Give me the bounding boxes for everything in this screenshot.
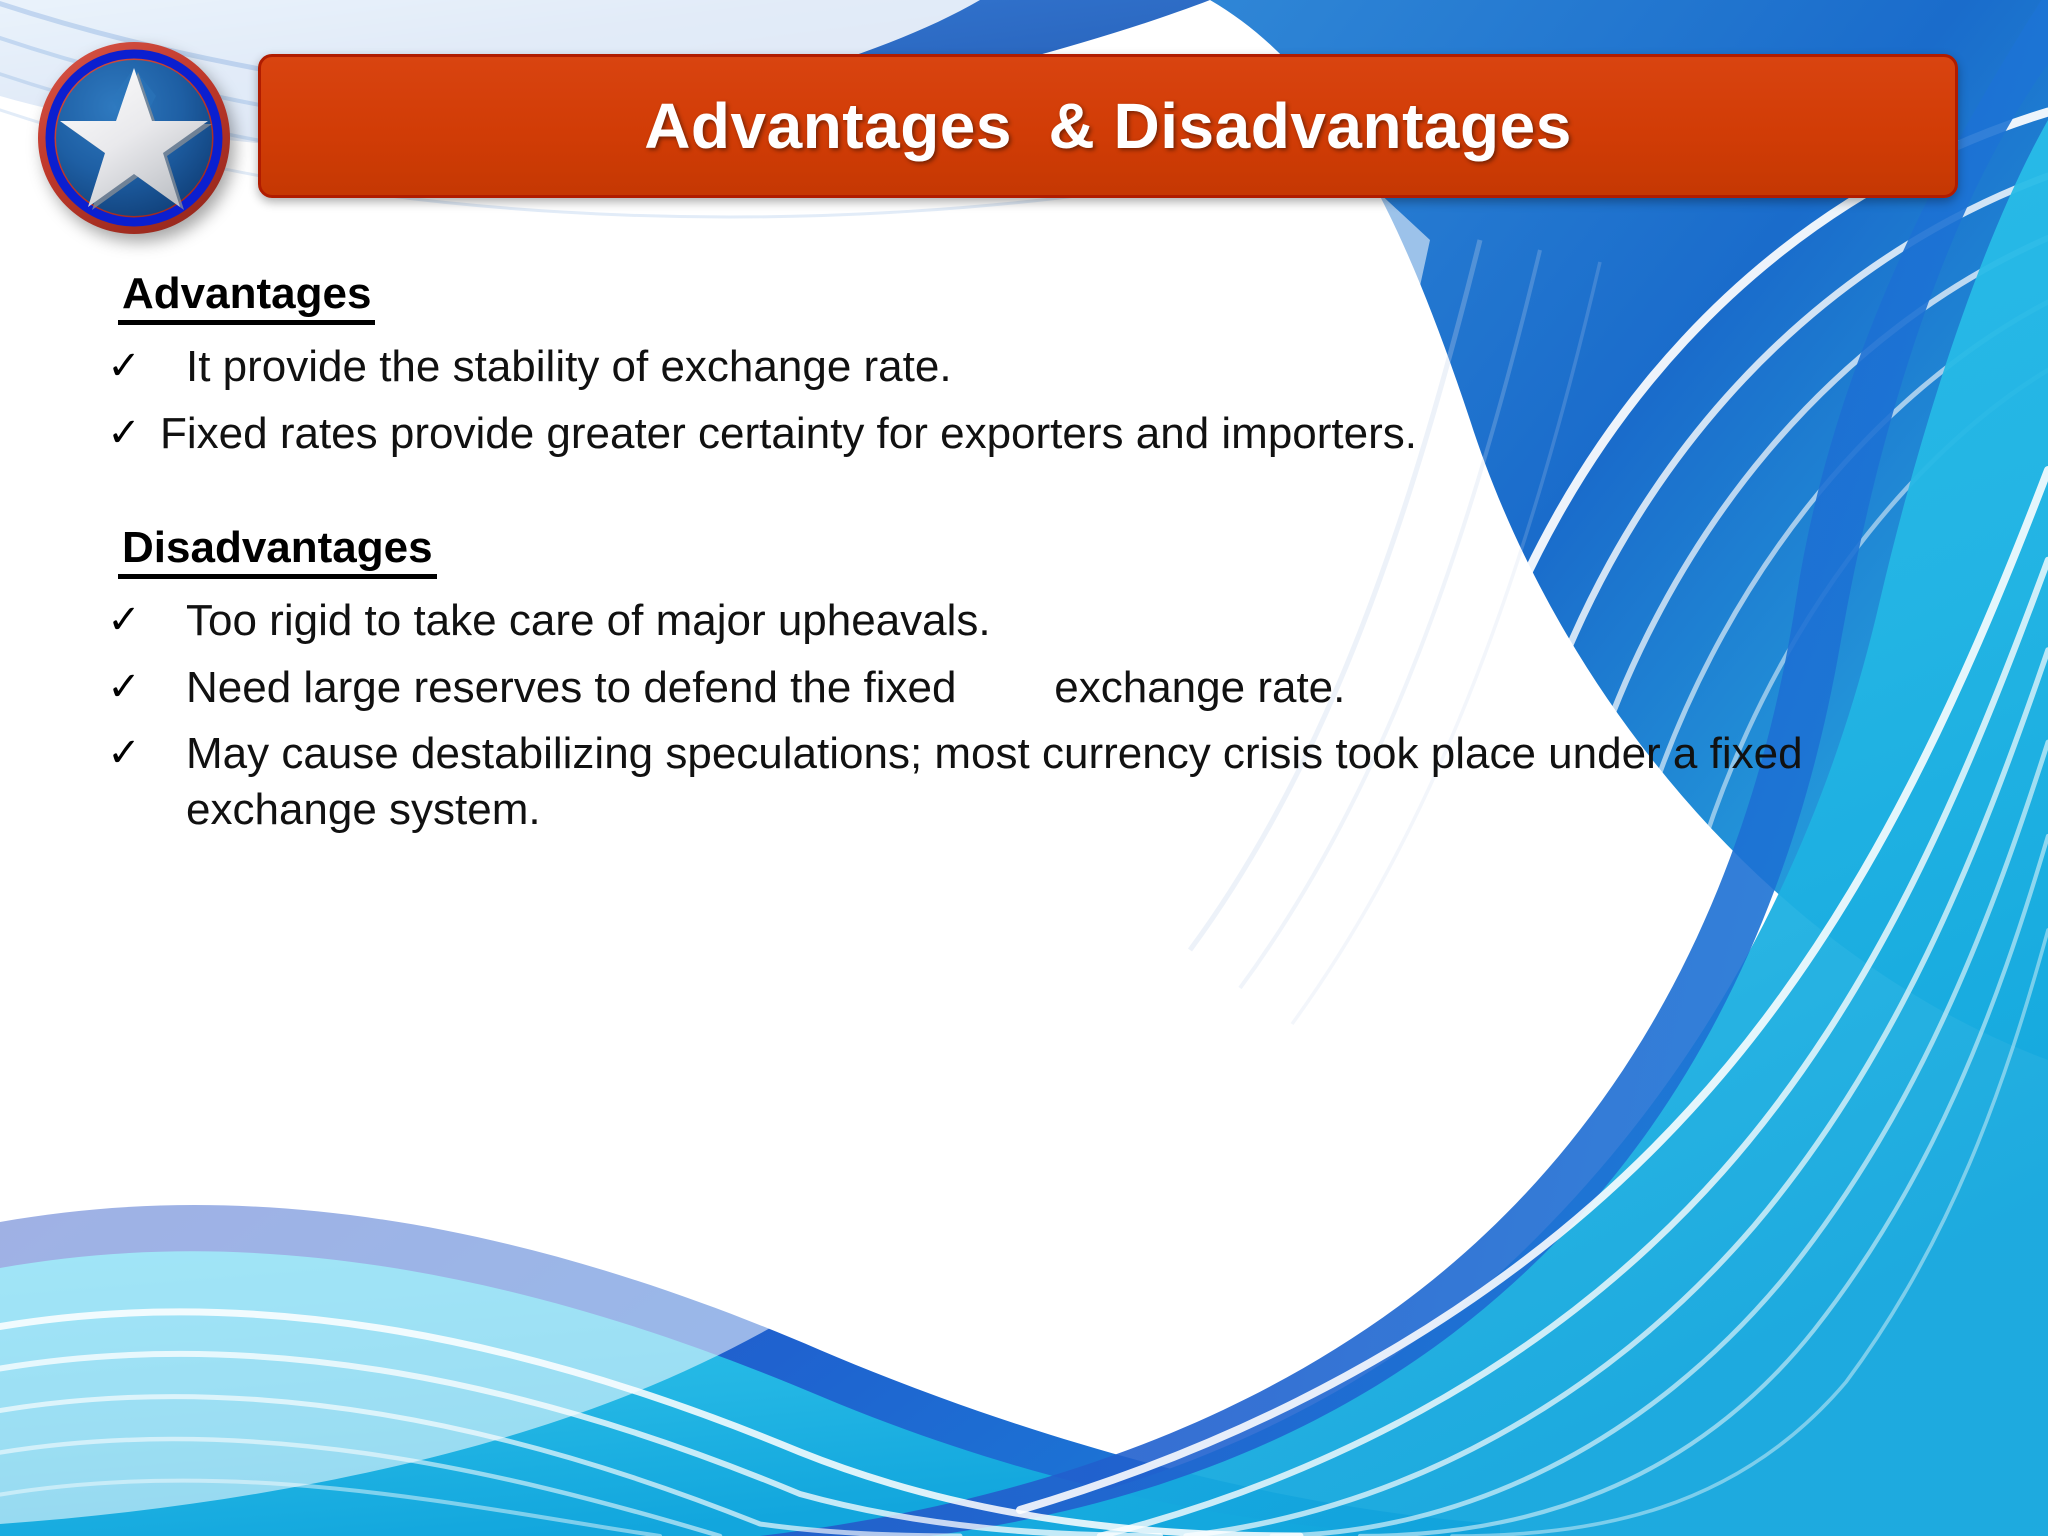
star-badge-icon [34, 38, 234, 238]
bullet-text: Too rigid to take care of major upheaval… [186, 593, 991, 649]
bullet-text: Need large reserves to defend the fixed … [186, 660, 1345, 716]
slide-title-bar: Advantages & Disadvantages [258, 54, 1958, 198]
section-advantages: Advantages ✓ It provide the stability of… [96, 270, 1856, 462]
list-item: ✓ It provide the stability of exchange r… [96, 339, 1856, 395]
list-item: ✓ Fixed rates provide greater certainty … [96, 406, 1856, 462]
checkmark-icon: ✓ [96, 593, 152, 646]
section-disadvantages: Disadvantages ✓ Too rigid to take care o… [96, 524, 1856, 839]
checkmark-icon: ✓ [96, 339, 152, 392]
checkmark-icon: ✓ [96, 406, 152, 459]
page-title: Advantages & Disadvantages [644, 89, 1572, 163]
bullet-text: It provide the stability of exchange rat… [186, 339, 952, 395]
bullet-list-disadvantages: ✓ Too rigid to take care of major upheav… [96, 593, 1856, 838]
list-item: ✓ Need large reserves to defend the fixe… [96, 660, 1856, 716]
section-heading-disadvantages: Disadvantages [118, 524, 437, 579]
checkmark-icon: ✓ [96, 660, 152, 713]
section-heading-advantages: Advantages [118, 270, 375, 325]
slide-content-body: Advantages ✓ It provide the stability of… [96, 270, 1856, 849]
list-item: ✓ Too rigid to take care of major upheav… [96, 593, 1856, 649]
bullet-text: May cause destabilizing speculations; mo… [186, 726, 1826, 839]
bullet-text: Fixed rates provide greater certainty fo… [160, 406, 1417, 462]
bullet-list-advantages: ✓ It provide the stability of exchange r… [96, 339, 1856, 462]
presentation-slide: Advantages & Disadvantages Advantages ✓ … [0, 0, 2048, 1536]
section-spacer [96, 472, 1856, 524]
list-item: ✓ May cause destabilizing speculations; … [96, 726, 1856, 839]
checkmark-icon: ✓ [96, 726, 152, 779]
